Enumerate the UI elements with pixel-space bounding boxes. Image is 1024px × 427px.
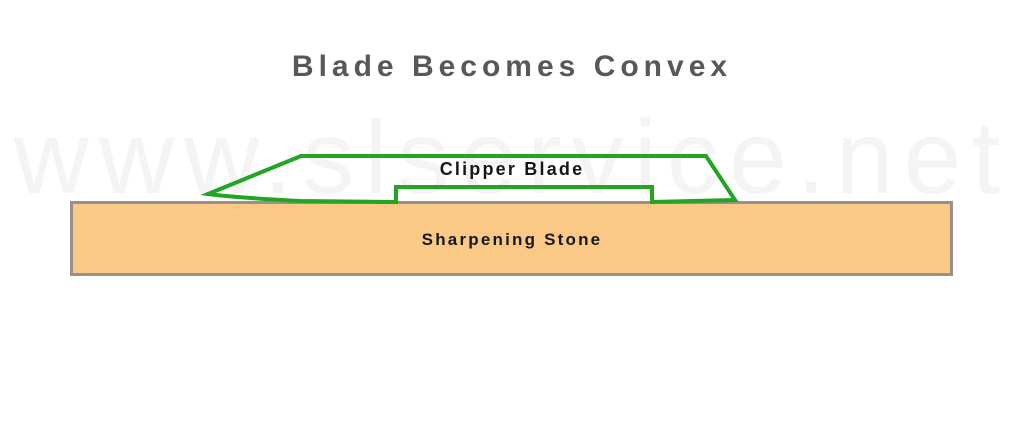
diagram-illustration bbox=[0, 0, 1024, 427]
sharpening-stone-label: Sharpening Stone bbox=[0, 230, 1024, 250]
diagram-canvas: www.slservice.net Blade Becomes Convex C… bbox=[0, 0, 1024, 427]
clipper-blade-label: Clipper Blade bbox=[0, 159, 1024, 180]
